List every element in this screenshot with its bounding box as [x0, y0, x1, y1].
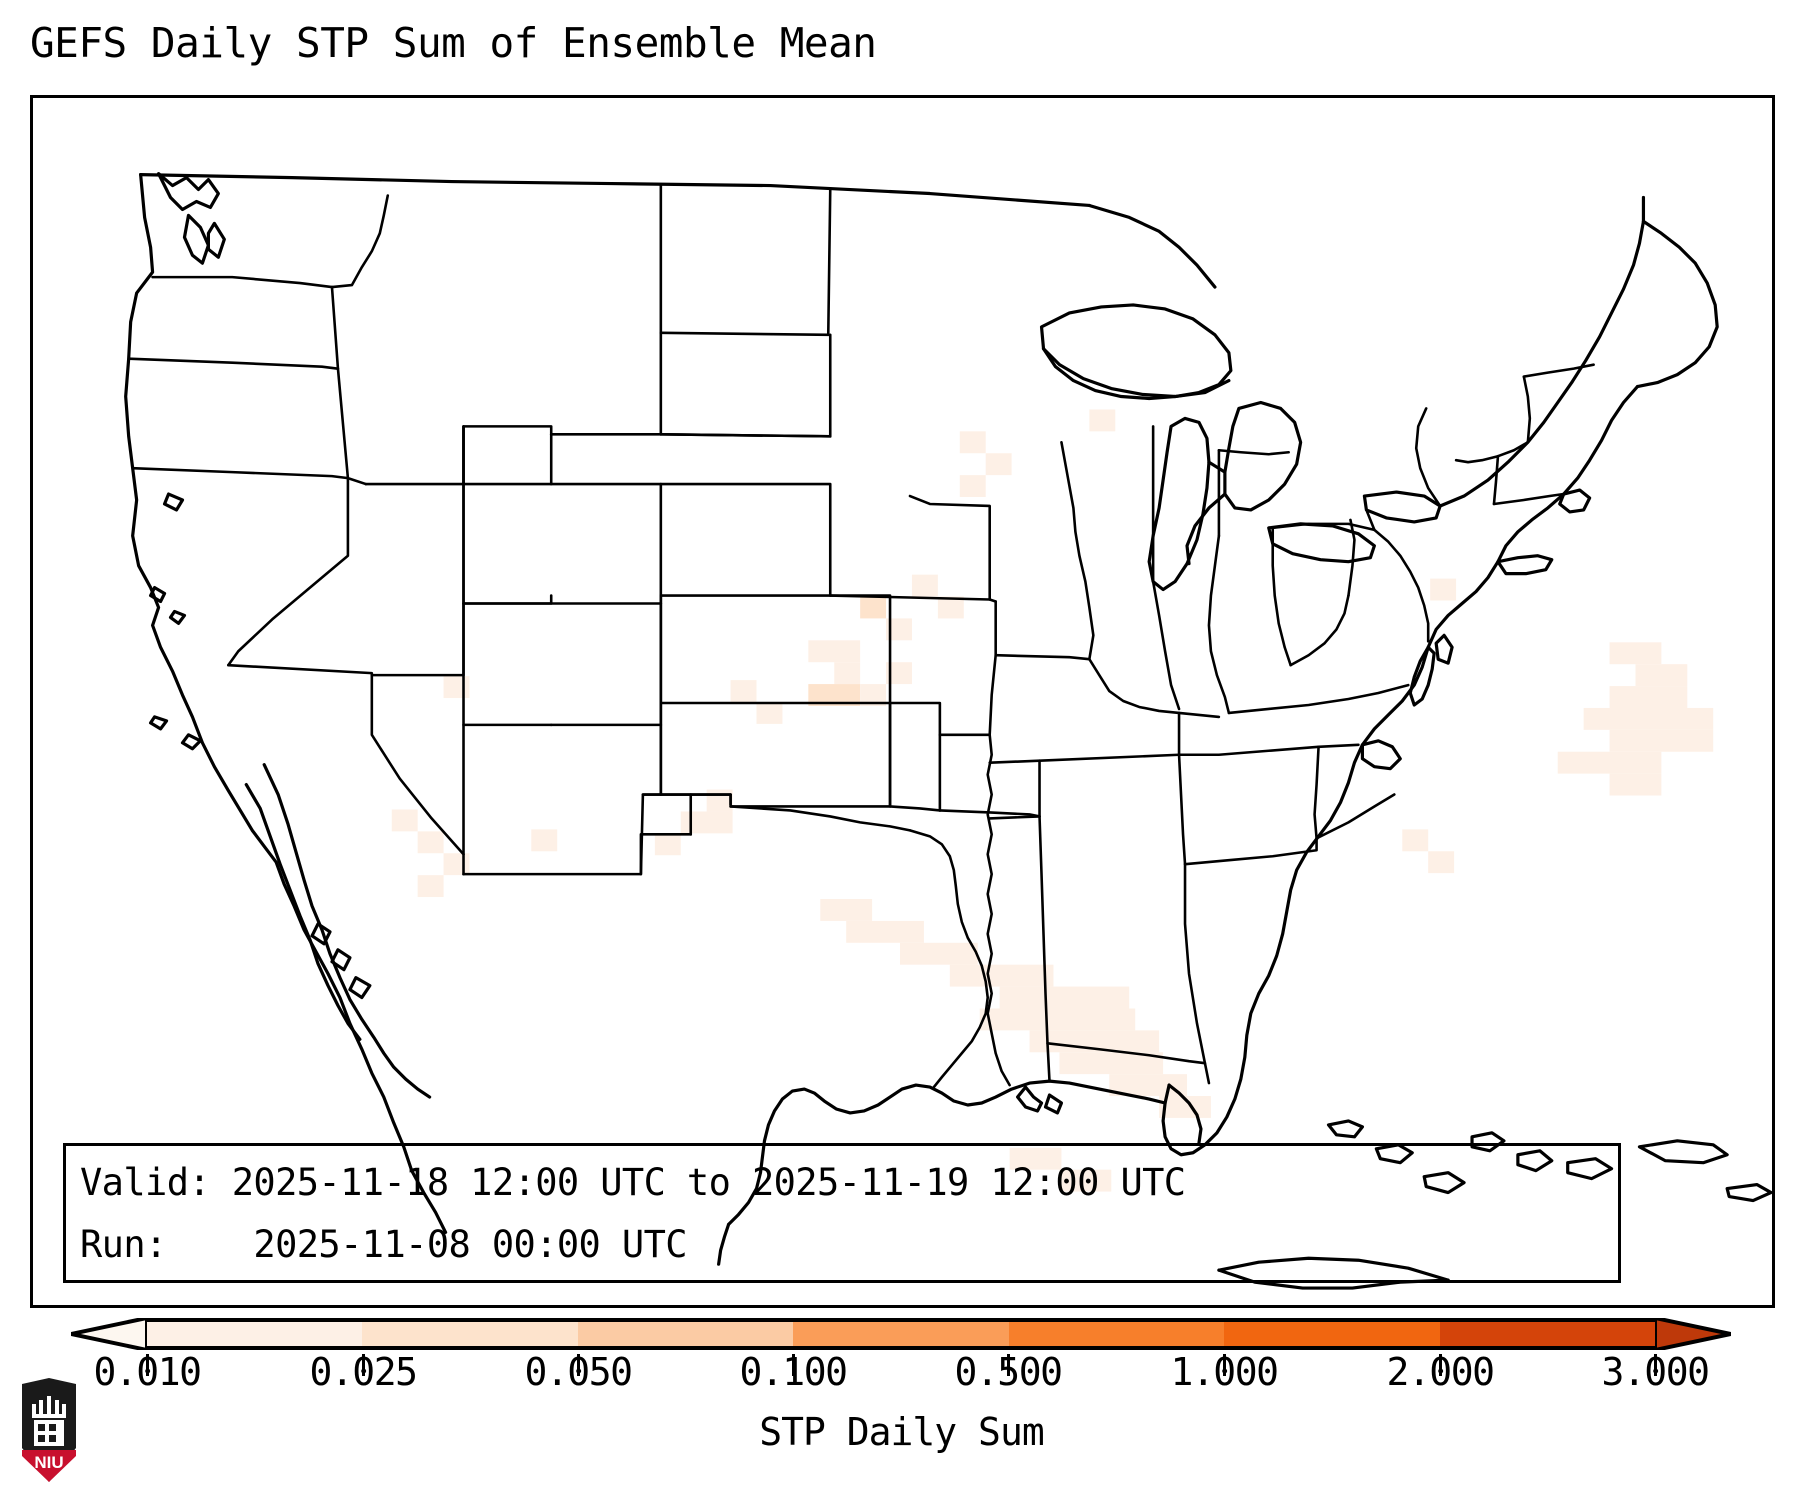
colorbar-band-3: [793, 1322, 1008, 1346]
colorbar-band-2: [578, 1322, 793, 1346]
stp-cell: [860, 597, 886, 619]
colorbar-tick-labels: 0.0100.0250.0500.1000.5001.0002.0003.000: [0, 1348, 1803, 1402]
stp-cell: [1610, 730, 1714, 752]
stp-cell: [444, 853, 470, 875]
stp-cell: [820, 899, 872, 921]
stp-cell: [1430, 579, 1456, 601]
stp-cell: [950, 965, 1054, 987]
stp-cell: [986, 453, 1012, 475]
stp-cell: [1610, 642, 1662, 664]
stp-cell: [1610, 774, 1662, 796]
stp-cell: [1584, 708, 1714, 730]
stp-cell: [960, 431, 986, 453]
stp-cell: [655, 833, 681, 855]
colorbar-tick-label-5: 1.000: [1171, 1348, 1278, 1396]
stp-cell: [1402, 829, 1428, 851]
colorbar-tick-label-1: 0.025: [310, 1348, 417, 1396]
niu-logo-text: NIU: [34, 1453, 63, 1472]
niu-logo: NIU: [18, 1378, 80, 1482]
map-panel: [30, 95, 1775, 1308]
stp-cell: [912, 575, 938, 597]
colorbar-tick-label-6: 2.000: [1387, 1348, 1494, 1396]
stp-cell: [808, 640, 860, 662]
colorbar-over-arrow: [1655, 1318, 1731, 1350]
stp-cell: [444, 676, 470, 698]
stp-cell: [418, 875, 444, 897]
stp-cell: [1558, 752, 1662, 774]
state-border-layer: [129, 186, 1594, 1088]
map-canvas: [33, 98, 1772, 1305]
stp-cell: [531, 829, 557, 851]
stp-cell: [731, 680, 757, 702]
colorbar-axis-label: STP Daily Sum: [0, 1408, 1803, 1456]
colorbar-bands: [147, 1318, 1655, 1350]
stp-cell: [1000, 987, 1130, 1009]
colorbar-band-0: [147, 1322, 362, 1346]
stp-cell: [980, 1008, 1135, 1030]
stp-cell: [707, 790, 733, 812]
colorbar-tick-label-4: 0.500: [955, 1348, 1062, 1396]
colorbar-tick-label-2: 0.050: [525, 1348, 632, 1396]
valid-time-line: Valid: 2025-11-18 12:00 UTC to 2025-11-1…: [80, 1152, 1604, 1214]
stp-cell: [960, 475, 986, 497]
colorbar-band-1: [362, 1322, 577, 1346]
colorbar-band-4: [1009, 1322, 1224, 1346]
page-title: GEFS Daily STP Sum of Ensemble Mean: [30, 18, 876, 68]
colorbar-band-6: [1440, 1322, 1655, 1346]
stp-cell: [846, 921, 924, 943]
stp-cell: [757, 702, 783, 724]
stp-cell: [1428, 851, 1454, 873]
colorbar-band-5: [1224, 1322, 1439, 1346]
stp-cell: [1635, 664, 1687, 686]
stp-cell: [681, 811, 733, 833]
forecast-info-box: Valid: 2025-11-18 12:00 UTC to 2025-11-1…: [63, 1143, 1621, 1283]
run-time-line: Run: 2025-11-08 00:00 UTC: [80, 1214, 1604, 1276]
colorbar-tick-label-7: 3.000: [1602, 1348, 1709, 1396]
stp-cell: [900, 943, 978, 965]
stp-cell: [1089, 409, 1115, 431]
stp-cell: [418, 831, 444, 853]
colorbar-tick-label-0: 0.010: [94, 1348, 201, 1396]
colorbar-under-arrow: [71, 1318, 147, 1350]
stp-cell: [1610, 686, 1688, 708]
stp-shading-layer: [392, 409, 1713, 1191]
colorbar-tick-label-3: 0.100: [740, 1348, 847, 1396]
stp-cell: [834, 662, 860, 684]
stp-cell: [392, 809, 418, 831]
